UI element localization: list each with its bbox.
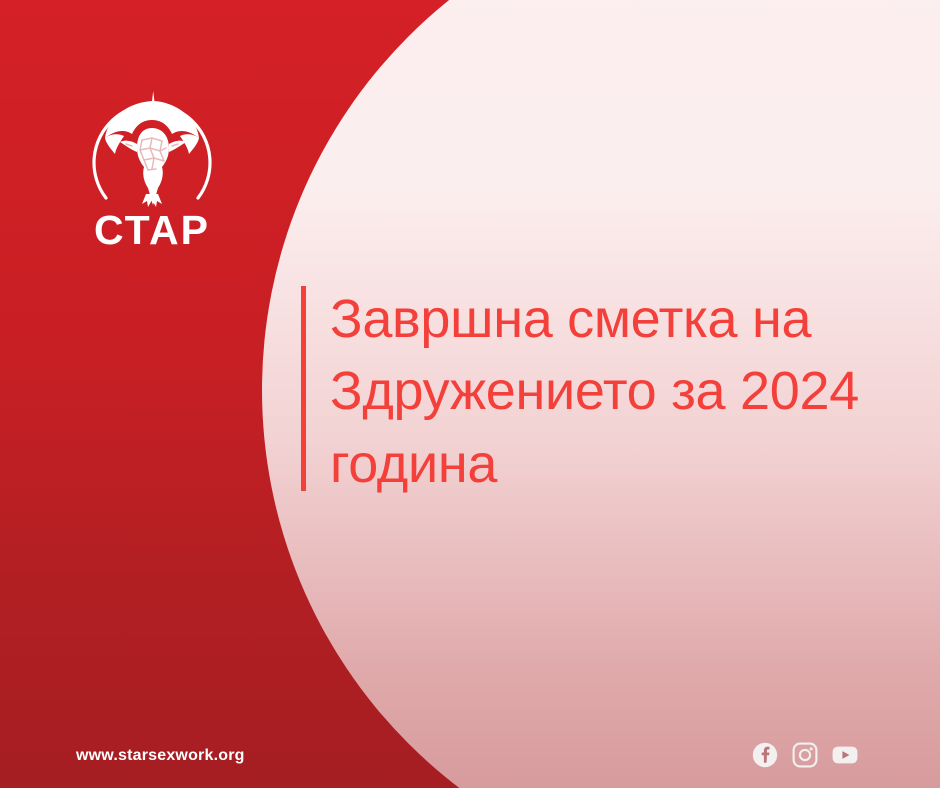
title-accent-bar — [301, 286, 306, 491]
instagram-icon[interactable] — [792, 742, 818, 768]
youtube-icon[interactable] — [832, 742, 858, 768]
facebook-icon[interactable] — [752, 742, 778, 768]
page-title: Завршна сметка на Здружението за 2024 го… — [330, 283, 940, 500]
website-url[interactable]: www.starsexwork.org — [76, 747, 245, 765]
title-block: Завршна сметка на Здружението за 2024 го… — [301, 283, 940, 500]
logo: СТАР — [76, 78, 228, 256]
poster-canvas: СТАР Завршна сметка на Здружението за 20… — [0, 0, 940, 788]
star-umbrella-emblem-icon — [76, 78, 228, 213]
logo-wordmark: СТАР — [76, 210, 228, 251]
social-links — [752, 742, 858, 768]
